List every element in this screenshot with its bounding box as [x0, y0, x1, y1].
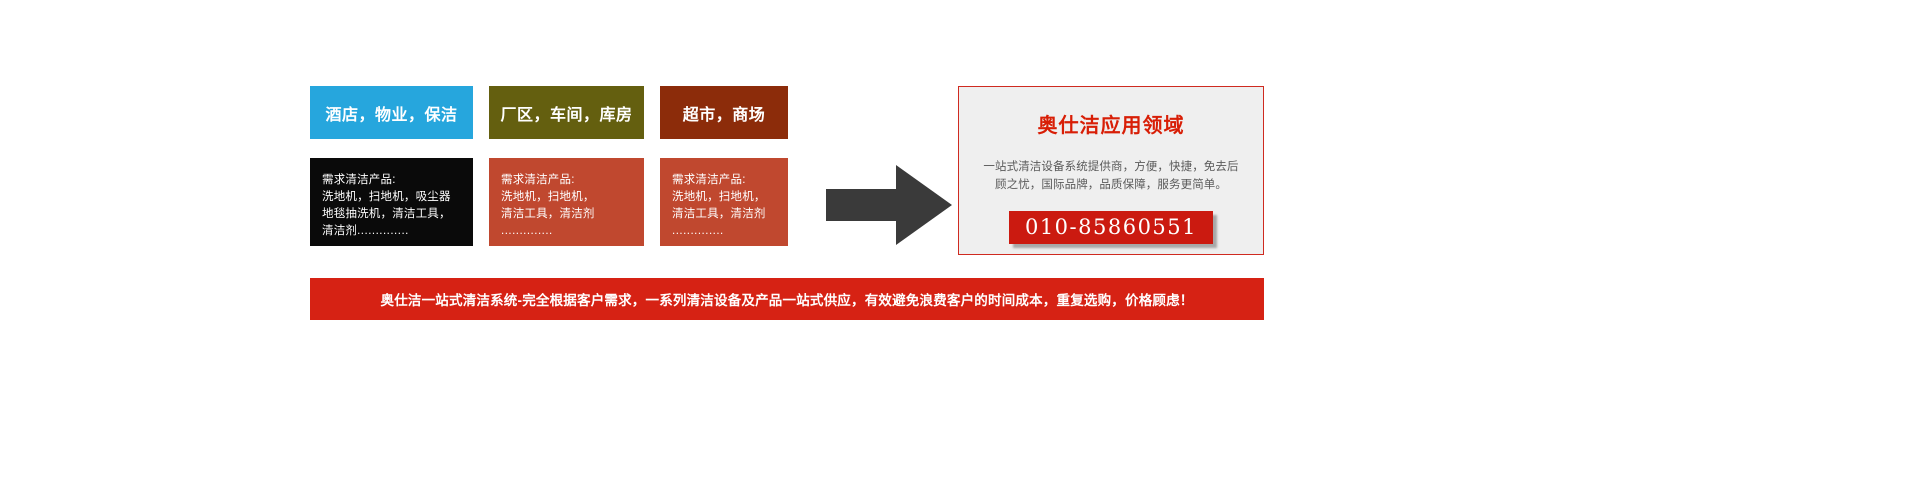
bottom-slogan-banner: 奥仕洁一站式清洁系统-完全根据客户需求，一系列清洁设备及产品一站式供应，有效避免…	[310, 278, 1264, 320]
category-detail-row: 需求清洁产品: 洗地机，扫地机，吸尘器 地毯抽洗机，清洁工具， 清洁剂.....…	[310, 158, 788, 246]
application-fields-panel: 奥仕洁应用领域 一站式清洁设备系统提供商，方便，快捷，免去后顾之忧，国际品牌，品…	[958, 86, 1264, 255]
detail-line: 洗地机，扫地机，	[501, 189, 634, 206]
category-header-factory-label: 厂区，车间，库房	[500, 101, 632, 125]
category-detail-factory: 需求清洁产品: 洗地机，扫地机， 清洁工具，清洁剂 ..............	[489, 158, 644, 246]
detail-dots: ..............	[672, 223, 778, 240]
detail-line: 清洁剂..............	[322, 223, 463, 240]
detail-dots: ..............	[357, 225, 409, 237]
detail-line: 清洁工具，清洁剂	[672, 206, 778, 223]
category-header-factory[interactable]: 厂区，车间，库房	[489, 86, 644, 139]
detail-line: 地毯抽洗机，清洁工具，	[322, 206, 463, 223]
category-header-hotel[interactable]: 酒店，物业，保洁	[310, 86, 473, 139]
phone-number-label: 010-85860551	[1025, 215, 1197, 239]
category-header-market[interactable]: 超市，商场	[660, 86, 788, 139]
arrow-right-icon	[826, 163, 952, 247]
category-detail-market: 需求清洁产品: 洗地机，扫地机， 清洁工具，清洁剂 ..............	[660, 158, 788, 246]
category-header-market-label: 超市，商场	[683, 101, 766, 125]
bottom-slogan-text: 奥仕洁一站式清洁系统-完全根据客户需求，一系列清洁设备及产品一站式供应，有效避免…	[381, 289, 1194, 309]
detail-line: 需求清洁产品:	[672, 172, 778, 189]
phone-button[interactable]: 010-85860551	[1009, 211, 1213, 244]
category-header-hotel-label: 酒店，物业，保洁	[325, 101, 457, 125]
category-detail-hotel: 需求清洁产品: 洗地机，扫地机，吸尘器 地毯抽洗机，清洁工具， 清洁剂.....…	[310, 158, 473, 246]
detail-line: 洗地机，扫地机，	[672, 189, 778, 206]
category-header-row: 酒店，物业，保洁 厂区，车间，库房 超市，商场	[310, 86, 788, 139]
detail-line-text: 清洁剂	[322, 225, 357, 237]
panel-description: 一站式清洁设备系统提供商，方便，快捷，免去后顾之忧，国际品牌，品质保障，服务更简…	[980, 158, 1242, 195]
panel-title: 奥仕洁应用领域	[1038, 109, 1185, 138]
promo-banner-stage: 酒店，物业，保洁 厂区，车间，库房 超市，商场 需求清洁产品: 洗地机，扫地机，…	[0, 0, 1920, 500]
detail-line: 需求清洁产品:	[501, 172, 634, 189]
detail-line: 需求清洁产品:	[322, 172, 463, 189]
detail-line: 清洁工具，清洁剂	[501, 206, 634, 223]
phone-button-wrap: 010-85860551	[1009, 211, 1213, 244]
category-columns: 酒店，物业，保洁 厂区，车间，库房 超市，商场 需求清洁产品: 洗地机，扫地机，…	[310, 86, 788, 246]
detail-dots: ..............	[501, 223, 634, 240]
detail-line: 洗地机，扫地机，吸尘器	[322, 189, 463, 206]
